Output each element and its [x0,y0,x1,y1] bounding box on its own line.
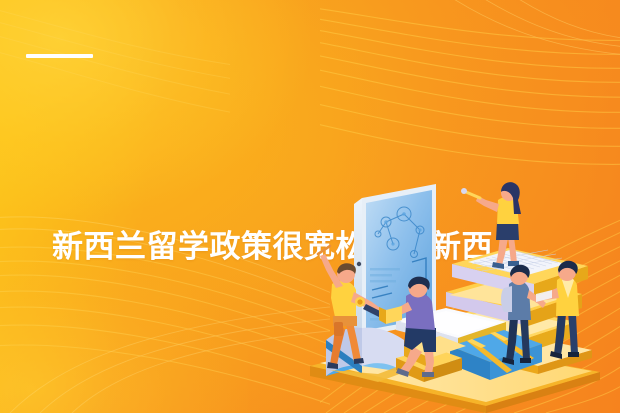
title-divider-rule [26,54,93,58]
coin-accent [355,297,365,307]
education-books-people-illustration [300,170,620,413]
promo-banner: 新西兰留学政策很宽松的，新西 兰中学以及学费都是怎 [0,0,620,413]
